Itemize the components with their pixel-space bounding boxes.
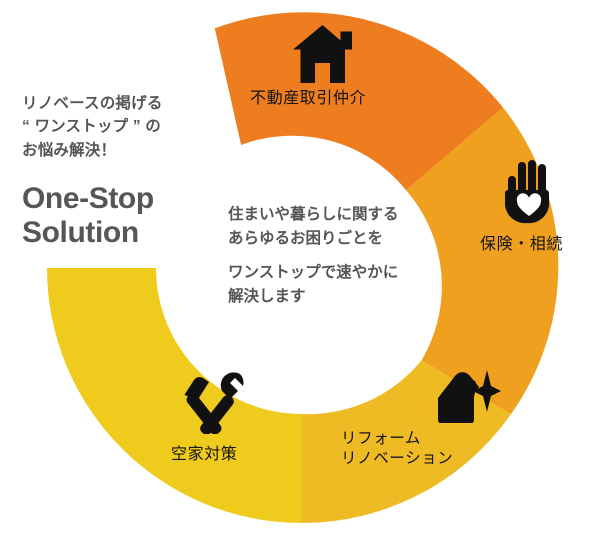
left-headline-block: リノベースの掲げる “ ワンストップ ” の お悩み解決！ One-Stop S… (22, 92, 232, 250)
house-icon (293, 25, 353, 83)
segment-label-insurance: 保険・相続 (480, 234, 563, 255)
segment-label-reform-line-1: リフォーム (341, 429, 453, 449)
center-spacer (228, 250, 456, 261)
center-line-4: 解決します (228, 285, 456, 309)
center-line-2: あらゆるお困りごとを (228, 227, 456, 251)
hand-heart-icon (505, 160, 553, 224)
headline: One-Stop Solution (22, 182, 232, 250)
segment-label-vacant-house: 空家対策 (171, 444, 237, 465)
headline-line-1: One-Stop (22, 182, 232, 216)
center-line-1: 住まいや暮らしに関する (228, 203, 456, 227)
infographic-page: リノベースの掲げる “ ワンストップ ” の お悩み解決！ One-Stop S… (0, 0, 600, 533)
center-description-block: 住まいや暮らしに関する あらゆるお困りごとを ワンストップで速やかに 解決します (228, 203, 456, 308)
hammer-wrench-icon (178, 368, 248, 434)
lead-line-3: お悩み解決！ (22, 139, 232, 162)
segment-label-reform: リフォーム リノベーション (341, 429, 453, 470)
lead-line-1: リノベースの掲げる (22, 92, 232, 115)
headline-line-2: Solution (22, 216, 232, 250)
center-line-3: ワンストップで速やかに (228, 261, 456, 285)
lead-line-2: “ ワンストップ ” の (22, 115, 232, 138)
segment-label-real-estate: 不動産取引仲介 (250, 88, 366, 109)
sparkle-house-icon (435, 370, 501, 424)
segment-label-reform-line-2: リノベーション (341, 449, 453, 469)
